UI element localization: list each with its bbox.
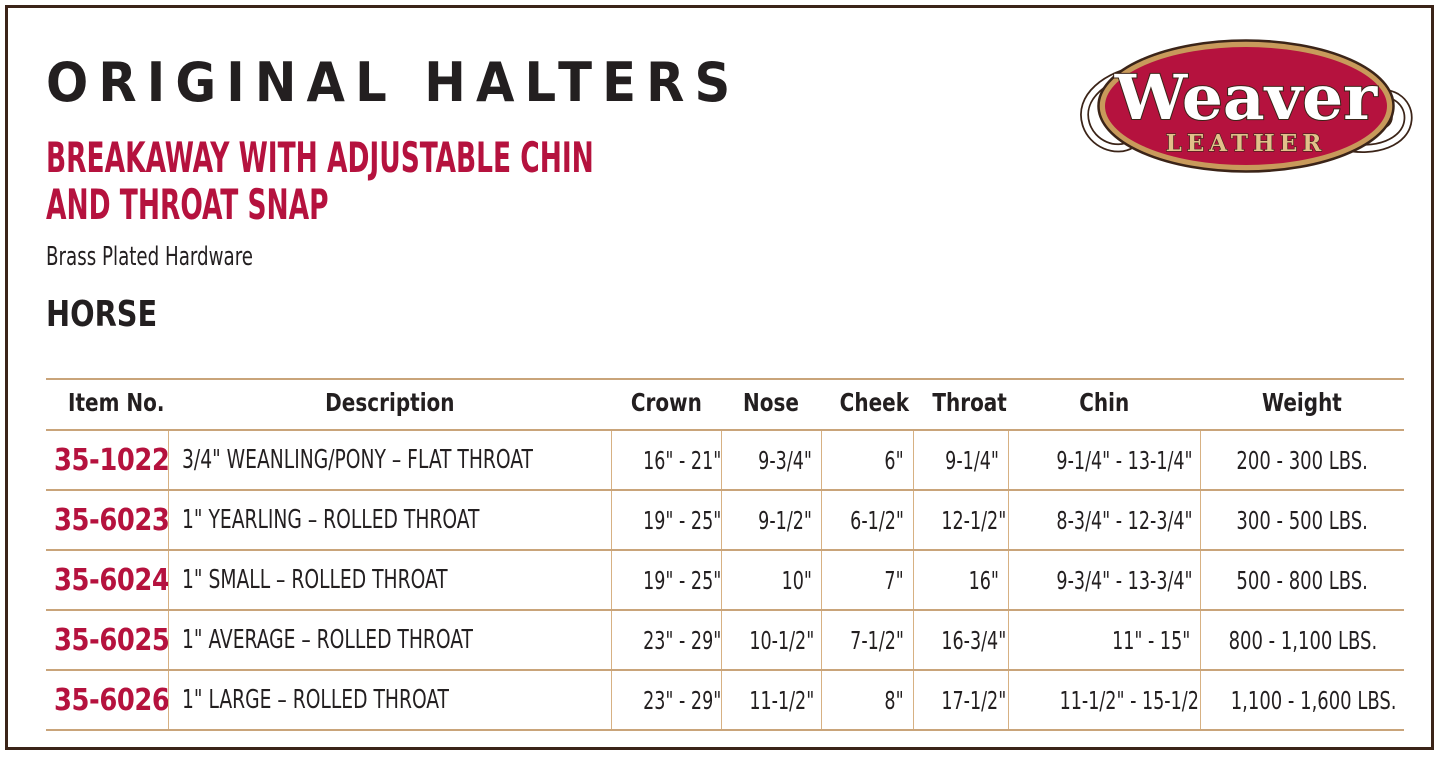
cell-throat: 9-1/4" [913,430,1008,490]
cell-chin: 11-1/2" - 15-1/2" [1008,670,1200,730]
header-block: ORIGINAL HALTERS BREAKAWAY WITH ADJUSTAB… [46,54,1046,335]
cell-description: 1" LARGE – ROLLED THROAT [168,670,611,730]
cell-crown: 23" - 29" [611,670,721,730]
specification-table: Item No. Description Crown Nose Cheek Th… [46,378,1404,731]
cell-description: 1" SMALL – ROLLED THROAT [168,550,611,610]
column-header-nose: Nose [721,379,821,430]
column-header-chin: Chin [1008,379,1200,430]
product-spec-card: ORIGINAL HALTERS BREAKAWAY WITH ADJUSTAB… [5,5,1434,750]
page-subtitle: BREAKAWAY WITH ADJUSTABLE CHIN AND THROA… [46,134,746,228]
column-header-crown: Crown [611,379,721,430]
cell-cheek: 6-1/2" [821,490,913,550]
cell-throat: 12-1/2" [913,490,1008,550]
column-header-weight: Weight [1200,379,1404,430]
table-body: 35-1022 3/4" WEANLING/PONY – FLAT THROAT… [46,430,1404,730]
table-row: 35-6023 1" YEARLING – ROLLED THROAT 19" … [46,490,1404,550]
cell-crown: 16" - 21" [611,430,721,490]
logo-artwork: Weaver LEATHER [1070,26,1420,186]
table-header-row: Item No. Description Crown Nose Cheek Th… [46,379,1404,430]
cell-chin: 9-1/4" - 13-1/4" [1008,430,1200,490]
cell-item-no: 35-6025 [46,610,168,670]
cell-description: 1" AVERAGE – ROLLED THROAT [168,610,611,670]
cell-weight: 500 - 800 LBS. [1200,550,1404,610]
cell-crown: 19" - 25" [611,490,721,550]
column-header-item-no: Item No. [46,379,168,430]
cell-throat: 16" [913,550,1008,610]
subtitle-line-2: AND THROAT SNAP [46,181,746,228]
cell-cheek: 8" [821,670,913,730]
cell-item-no: 35-6024 [46,550,168,610]
page-title: ORIGINAL HALTERS [46,54,966,112]
category-heading: HORSE [46,294,846,335]
cell-nose: 9-3/4" [721,430,821,490]
cell-throat: 16-3/4" [913,610,1008,670]
cell-item-no: 35-1022 [46,430,168,490]
table-header: Item No. Description Crown Nose Cheek Th… [46,379,1404,430]
cell-weight: 1,100 - 1,600 LBS. [1200,670,1404,730]
cell-description: 1" YEARLING – ROLLED THROAT [168,490,611,550]
cell-nose: 11-1/2" [721,670,821,730]
cell-crown: 23" - 29" [611,610,721,670]
logo-brand-text: Weaver [1114,61,1378,134]
cell-weight: 200 - 300 LBS. [1200,430,1404,490]
cell-nose: 9-1/2" [721,490,821,550]
cell-weight: 800 - 1,100 LBS. [1200,610,1404,670]
cell-chin: 9-3/4" - 13-3/4" [1008,550,1200,610]
logo-subbrand-text: LEATHER [1166,130,1327,157]
cell-description: 3/4" WEANLING/PONY – FLAT THROAT [168,430,611,490]
table-row: 35-6026 1" LARGE – ROLLED THROAT 23" - 2… [46,670,1404,730]
cell-weight: 300 - 500 LBS. [1200,490,1404,550]
column-header-throat: Throat [913,379,1008,430]
cell-nose: 10" [721,550,821,610]
cell-crown: 19" - 25" [611,550,721,610]
cell-cheek: 7-1/2" [821,610,913,670]
cell-cheek: 6" [821,430,913,490]
table-row: 35-6024 1" SMALL – ROLLED THROAT 19" - 2… [46,550,1404,610]
weaver-leather-logo: Weaver LEATHER [1070,26,1420,186]
column-header-cheek: Cheek [821,379,913,430]
subtitle-line-1: BREAKAWAY WITH ADJUSTABLE CHIN [46,134,746,181]
cell-item-no: 35-6023 [46,490,168,550]
table-row: 35-1022 3/4" WEANLING/PONY – FLAT THROAT… [46,430,1404,490]
table-row: 35-6025 1" AVERAGE – ROLLED THROAT 23" -… [46,610,1404,670]
cell-chin: 8-3/4" - 12-3/4" [1008,490,1200,550]
column-header-description: Description [168,379,611,430]
cell-nose: 10-1/2" [721,610,821,670]
specification-table-wrapper: Item No. Description Crown Nose Cheek Th… [46,378,1404,731]
cell-item-no: 35-6026 [46,670,168,730]
cell-chin: 11" - 15" [1008,610,1200,670]
cell-throat: 17-1/2" [913,670,1008,730]
cell-cheek: 7" [821,550,913,610]
hardware-note: Brass Plated Hardware [46,242,826,272]
